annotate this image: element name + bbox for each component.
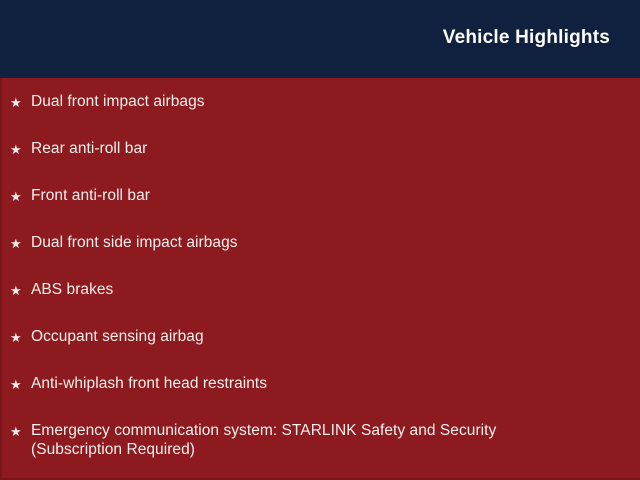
vehicle-highlights-slide: Vehicle Highlights ★ Dual front impact a… <box>0 0 640 480</box>
list-item: ★ Occupant sensing airbag <box>2 321 640 368</box>
star-bullet-icon: ★ <box>10 423 24 440</box>
header-bar: Vehicle Highlights <box>0 0 640 78</box>
list-item: ★ Emergency communication system: STARLI… <box>2 415 640 462</box>
list-item-label: Dual front side impact airbags <box>31 227 278 252</box>
list-item-label: Front anti-roll bar <box>31 180 190 205</box>
list-item: ★ Front anti-roll bar <box>2 180 640 227</box>
list-item-label: Anti-whiplash front head restraints <box>31 368 307 393</box>
star-bullet-icon: ★ <box>10 94 24 111</box>
list-item-label: Dual front impact airbags <box>31 86 245 111</box>
page-title: Vehicle Highlights <box>443 27 610 49</box>
list-item-label: Emergency communication system: STARLINK… <box>31 415 631 459</box>
list-item-label: Occupant sensing airbag <box>31 321 244 346</box>
list-item: ★ ABS brakes <box>2 274 640 321</box>
list-item: ★ Rear anti-roll bar <box>2 133 640 180</box>
list-item: ★ Dual front side impact airbags <box>2 227 640 274</box>
list-item: ★ Dual front impact airbags <box>2 86 640 133</box>
star-bullet-icon: ★ <box>10 282 24 299</box>
star-bullet-icon: ★ <box>10 188 24 205</box>
list-item: ★ Anti-whiplash front head restraints <box>2 368 640 415</box>
highlights-list: ★ Dual front impact airbags ★ Rear anti-… <box>2 86 640 462</box>
star-bullet-icon: ★ <box>10 376 24 393</box>
star-bullet-icon: ★ <box>10 329 24 346</box>
star-bullet-icon: ★ <box>10 235 24 252</box>
list-item-label: ABS brakes <box>31 274 153 299</box>
highlights-panel: ★ Dual front impact airbags ★ Rear anti-… <box>0 78 640 480</box>
list-item-label: Rear anti-roll bar <box>31 133 187 158</box>
star-bullet-icon: ★ <box>10 141 24 158</box>
